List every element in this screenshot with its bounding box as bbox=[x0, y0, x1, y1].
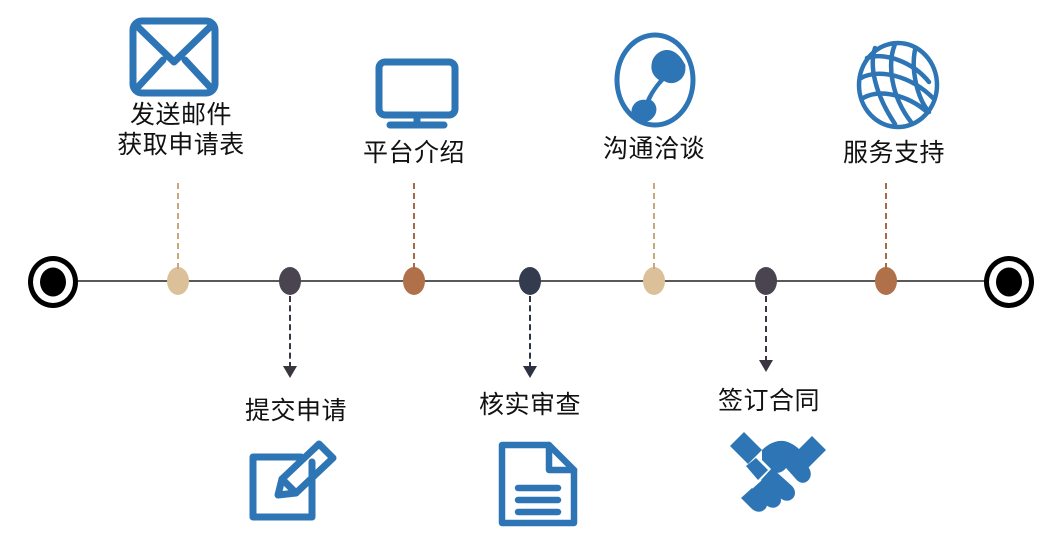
milestone-label-3: 平台介绍 bbox=[363, 138, 465, 168]
connector-arrow-2 bbox=[283, 366, 297, 378]
milestone-label-6-text: 签订合同 bbox=[718, 386, 820, 416]
milestone-label-6: 签订合同 bbox=[718, 386, 820, 416]
handshake-icon bbox=[728, 428, 828, 518]
connector-line-6 bbox=[765, 296, 767, 362]
envelope-icon bbox=[128, 16, 220, 98]
globe-icon bbox=[855, 40, 941, 130]
milestone-label-1-line2: 获取申请表 bbox=[117, 130, 245, 160]
connector-line-3 bbox=[413, 183, 415, 269]
telephone-icon bbox=[612, 30, 698, 130]
connector-line-1 bbox=[177, 183, 179, 269]
connector-line-4 bbox=[529, 296, 531, 368]
milestone-label-2-text: 提交申请 bbox=[245, 396, 347, 426]
milestone-label-7-text: 服务支持 bbox=[843, 138, 945, 168]
timeline-start-marker bbox=[28, 256, 78, 308]
document-lines-icon bbox=[497, 440, 579, 528]
timeline-diagram: 发送邮件 获取申请表 平台介绍 沟通洽谈 服务支持 提交申请 核实审查 签订合同 bbox=[0, 0, 1046, 549]
milestone-label-1: 发送邮件 获取申请表 bbox=[117, 100, 245, 160]
connector-arrow-4 bbox=[523, 366, 537, 378]
milestone-dot-1[interactable] bbox=[167, 267, 189, 295]
milestone-dot-4[interactable] bbox=[519, 267, 541, 295]
connector-line-2 bbox=[289, 296, 291, 368]
edit-document-icon bbox=[245, 437, 341, 527]
timeline-end-marker bbox=[984, 256, 1034, 308]
milestone-label-1-line1: 发送邮件 bbox=[117, 100, 245, 130]
milestone-label-7: 服务支持 bbox=[843, 138, 945, 168]
connector-line-5 bbox=[653, 183, 655, 269]
connector-arrow-6 bbox=[759, 360, 773, 372]
milestone-label-4: 核实审查 bbox=[479, 390, 581, 420]
milestone-label-5-text: 沟通洽谈 bbox=[603, 134, 705, 164]
monitor-icon bbox=[374, 58, 460, 130]
milestone-dot-6[interactable] bbox=[755, 267, 777, 295]
milestone-label-4-text: 核实审查 bbox=[479, 390, 581, 420]
milestone-dot-7[interactable] bbox=[875, 267, 897, 295]
milestone-label-2: 提交申请 bbox=[245, 396, 347, 426]
milestone-label-5: 沟通洽谈 bbox=[603, 134, 705, 164]
milestone-dot-2[interactable] bbox=[279, 267, 301, 295]
milestone-dot-3[interactable] bbox=[403, 267, 425, 295]
connector-line-7 bbox=[885, 183, 887, 269]
milestone-label-3-text: 平台介绍 bbox=[363, 138, 465, 168]
milestone-dot-5[interactable] bbox=[643, 267, 665, 295]
